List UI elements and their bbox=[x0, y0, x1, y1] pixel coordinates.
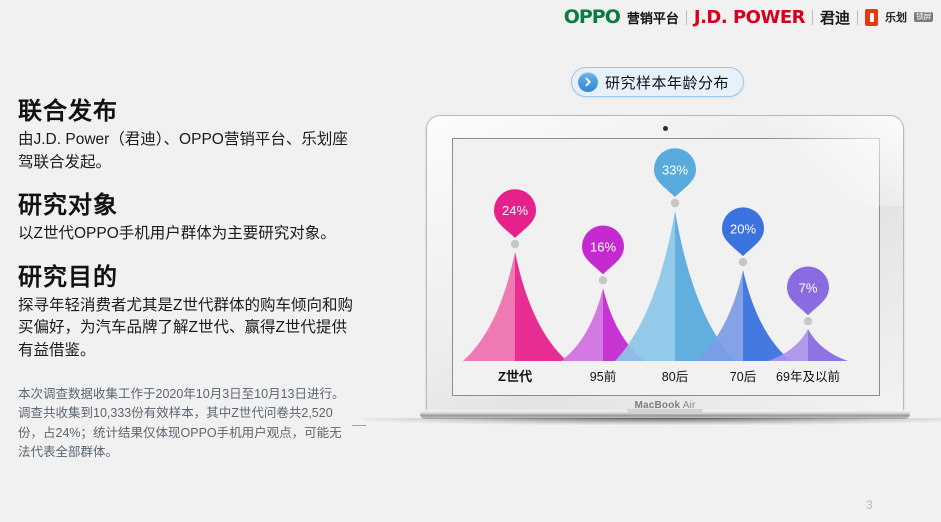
logo-divider-1 bbox=[686, 10, 687, 25]
logo-divider-3 bbox=[857, 10, 858, 25]
laptop-mockup: 24%16%33%20%7% Z世代95前80后70后69年及以前 MacBoo… bbox=[420, 115, 910, 425]
age-distribution-chart: 24%16%33%20%7% Z世代95前80后70后69年及以前 bbox=[453, 139, 880, 396]
laptop-screen: 24%16%33%20%7% Z世代95前80后70后69年及以前 bbox=[452, 138, 880, 396]
jundi-label: 君迪 bbox=[820, 7, 850, 28]
methodology-footnote: 本次调查数据收集工作于2020年10月3日至10月13日进行。调查共收集到10,… bbox=[18, 385, 348, 463]
x-axis-label-2: 80后 bbox=[662, 370, 688, 384]
section-heading: 研究对象 bbox=[18, 190, 358, 221]
section-research-purpose: 研究目的 探寻年轻消费者尤其是Z世代群体的购车倾向和购买偏好，为汽车品牌了解Z世… bbox=[18, 262, 358, 363]
page-number: 3 bbox=[866, 498, 873, 512]
balloon-value-label-4: 7% bbox=[799, 280, 818, 295]
section-heading: 研究目的 bbox=[18, 262, 358, 293]
chart-svg: 24%16%33%20%7% Z世代95前80后70后69年及以前 bbox=[453, 139, 880, 396]
balloon-value-label-0: 24% bbox=[502, 203, 528, 218]
section-body: 由J.D. Power（君迪）、OPPO营销平台、乐划座驾联合发起。 bbox=[18, 129, 358, 174]
section-research-subject: 研究对象 以Z世代OPPO手机用户群体为主要研究对象。 bbox=[18, 190, 358, 246]
balloon-anchor-dot-3 bbox=[739, 258, 747, 266]
section-body: 以Z世代OPPO手机用户群体为主要研究对象。 bbox=[18, 223, 358, 245]
chevron-right-icon bbox=[578, 72, 598, 92]
section-title-pill: 研究样本年龄分布 bbox=[571, 67, 744, 97]
jdpower-logo: J.D. POWER bbox=[694, 7, 805, 28]
section-body: 探寻年轻消费者尤其是Z世代群体的购车倾向和购买偏好，为汽车品牌了解Z世代、赢得Z… bbox=[18, 295, 358, 362]
logo-divider-2 bbox=[812, 10, 813, 25]
balloon-value-label-2: 33% bbox=[662, 162, 688, 177]
laptop-notch bbox=[627, 409, 703, 414]
balloon-anchor-dot-0 bbox=[511, 240, 519, 248]
balloon-anchor-dot-2 bbox=[671, 199, 679, 207]
balloon-value-label-3: 20% bbox=[730, 221, 756, 236]
leju-label: 乐划 bbox=[885, 9, 907, 25]
brand-logo-bar: OPPO 营销平台 J.D. POWER 君迪 乐划 锁屏 bbox=[564, 6, 933, 28]
balloon-value-label-1: 16% bbox=[590, 240, 616, 255]
leju-badge: 锁屏 bbox=[914, 12, 933, 22]
leju-icon bbox=[865, 9, 878, 26]
balloon-anchor-dot-1 bbox=[599, 276, 607, 284]
oppo-platform-label: 营销平台 bbox=[627, 8, 679, 27]
oppo-logo: OPPO bbox=[564, 8, 620, 27]
section-title-label: 研究样本年龄分布 bbox=[605, 72, 729, 93]
webcam-icon bbox=[663, 126, 668, 131]
laptop-lid: 24%16%33%20%7% Z世代95前80后70后69年及以前 MacBoo… bbox=[426, 115, 904, 417]
section-joint-release: 联合发布 由J.D. Power（君迪）、OPPO营销平台、乐划座驾联合发起。 bbox=[18, 96, 358, 174]
x-axis-label-4: 69年及以前 bbox=[776, 369, 840, 384]
x-axis-label-1: 95前 bbox=[590, 369, 616, 384]
section-heading: 联合发布 bbox=[18, 96, 358, 127]
intro-text-column: 联合发布 由J.D. Power（君迪）、OPPO营销平台、乐划座驾联合发起。 … bbox=[18, 96, 358, 378]
x-axis-label-3: 70后 bbox=[730, 370, 756, 384]
footnote-text: 本次调查数据收集工作于2020年10月3日至10月13日进行。调查共收集到10,… bbox=[18, 387, 344, 459]
laptop-shadow bbox=[362, 418, 941, 425]
x-axis-label-0: Z世代 bbox=[498, 369, 532, 384]
footnote-dash bbox=[352, 425, 366, 426]
balloon-anchor-dot-4 bbox=[804, 317, 812, 325]
